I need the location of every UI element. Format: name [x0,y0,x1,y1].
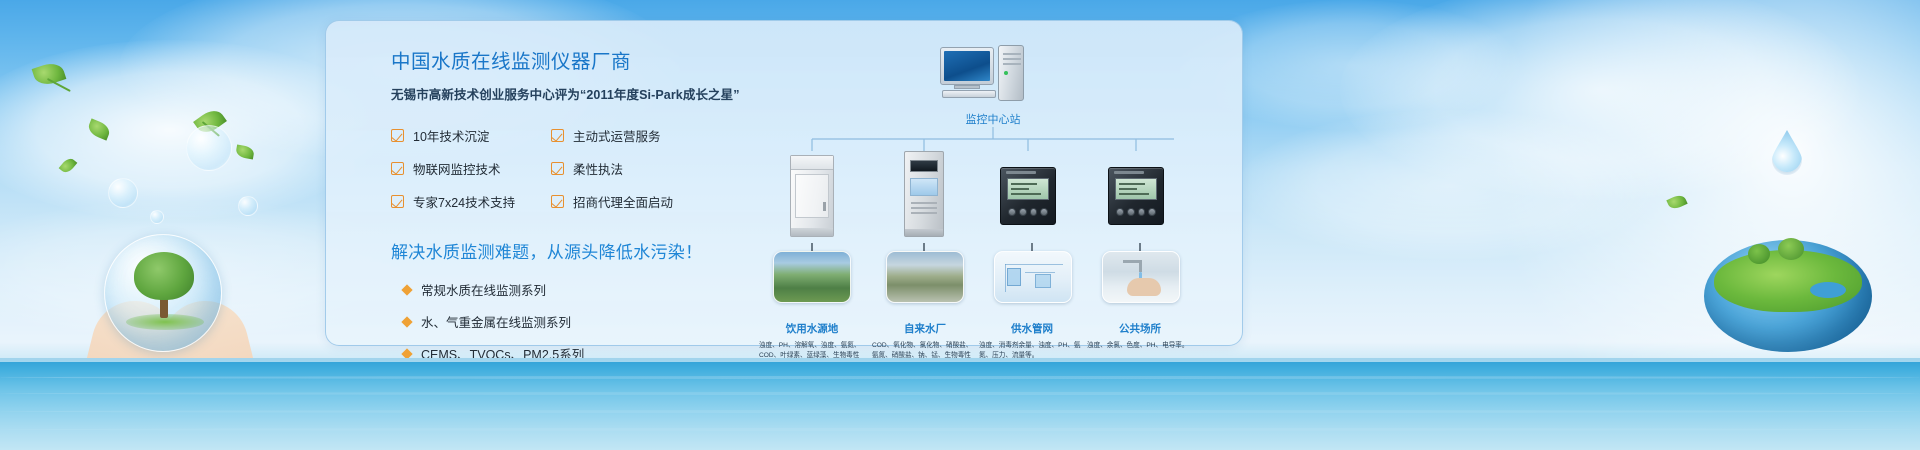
device-controller-panel [1106,149,1166,241]
diamond-bullet-icon [401,316,412,327]
scenario-photos [758,251,1228,317]
cloud-decoration [1240,110,1660,260]
water-band [0,358,1920,450]
earth-globe [1704,240,1872,352]
product-label: 水、气重金属在线监测系列 [421,312,571,331]
scenario-title: 供水管网 [976,321,1088,336]
scenario-title: 自来水厂 [869,321,981,336]
green-earth-illustration [1704,222,1872,354]
tree-canopy-icon [134,252,194,300]
water-drop-icon [1772,130,1802,172]
page-subtitle: 无锡市高新技术创业服务中心评为“2011年度Si-Park成长之星” [391,84,736,103]
bubble-decoration [238,196,258,216]
leaf-icon [86,118,112,140]
card-left-column: 中国水质在线监测仪器厂商 无锡市高新技术创业服务中心评为“2011年度Si-Pa… [391,45,736,408]
bubble-decoration [150,210,164,224]
section-title: 解决水质监测难题，从源头降低水污染！ [391,238,736,263]
feature-label: 招商代理全面启动 [573,192,673,211]
scenario-desc: 浊度、余氯、色度、PH、电导率。 [1084,341,1196,351]
feature-item: 主动式运营服务 [551,126,711,145]
scenario-title: 公共场所 [1084,321,1196,336]
photo-drinking-water-source [773,251,851,303]
feature-label: 10年技术沉淀 [413,126,489,145]
promo-card: 中国水质在线监测仪器厂商 无锡市高新技术创业服务中心评为“2011年度Si-Pa… [325,20,1243,346]
list-item: 水、气重金属在线监测系列 [391,312,736,331]
device-monitoring-cabinet [894,149,954,241]
product-label: 常规水质在线监测系列 [421,280,546,299]
checkbox-checked-icon [551,162,564,175]
feature-item: 10年技术沉淀 [391,126,551,145]
page-title: 中国水质在线监测仪器厂商 [391,45,736,74]
feature-label: 柔性执法 [573,159,623,178]
feature-label: 主动式运营服务 [573,126,661,145]
photo-water-plant [886,251,964,303]
device-row [758,149,1228,241]
bubble-decoration [186,125,232,171]
scenario-caption: 供水管网 浊度、消毒剂余量、浊度、PH、氨氮、压力、流量等。 [976,321,1088,361]
device-controller-panel [998,149,1058,241]
feature-item: 物联网监控技术 [391,159,551,178]
checkbox-checked-icon [391,129,404,142]
scenario-caption: 公共场所 浊度、余氯、色度、PH、电导率。 [1084,321,1196,351]
photo-public-place-tap [1102,251,1180,303]
photo-water-pipe-network [994,251,1072,303]
feature-label: 专家7x24技术支持 [413,192,515,211]
leaf-icon [1666,193,1687,211]
feature-item: 专家7x24技术支持 [391,192,551,211]
feature-label: 物联网监控技术 [413,159,501,178]
list-item: 常规水质在线监测系列 [391,280,736,299]
earth-lake [1810,282,1846,298]
feature-item: 招商代理全面启动 [551,192,711,211]
feature-item: 柔性执法 [551,159,711,178]
leaf-icon [235,145,255,160]
leaf-icon [32,60,67,88]
checkbox-checked-icon [551,195,564,208]
banner-stage: 中国水质在线监测仪器厂商 无锡市高新技术创业服务中心评为“2011年度Si-Pa… [0,0,1920,450]
checkbox-checked-icon [551,129,564,142]
device-water-analyzer-cabinet [782,149,842,241]
system-topology-diagram: 监控中心站 [758,39,1228,339]
checkbox-checked-icon [391,162,404,175]
diamond-bullet-icon [401,284,412,295]
tree-icon [1778,238,1804,260]
tree-icon [1748,244,1770,264]
scenario-title: 饮用水源地 [756,321,868,336]
checkbox-checked-icon [391,195,404,208]
bubble-decoration [108,178,138,208]
feature-checklist: 10年技术沉淀 主动式运营服务 物联网监控技术 柔性执法 专家7x24技术支持 [391,126,736,211]
leaf-icon [59,156,78,175]
